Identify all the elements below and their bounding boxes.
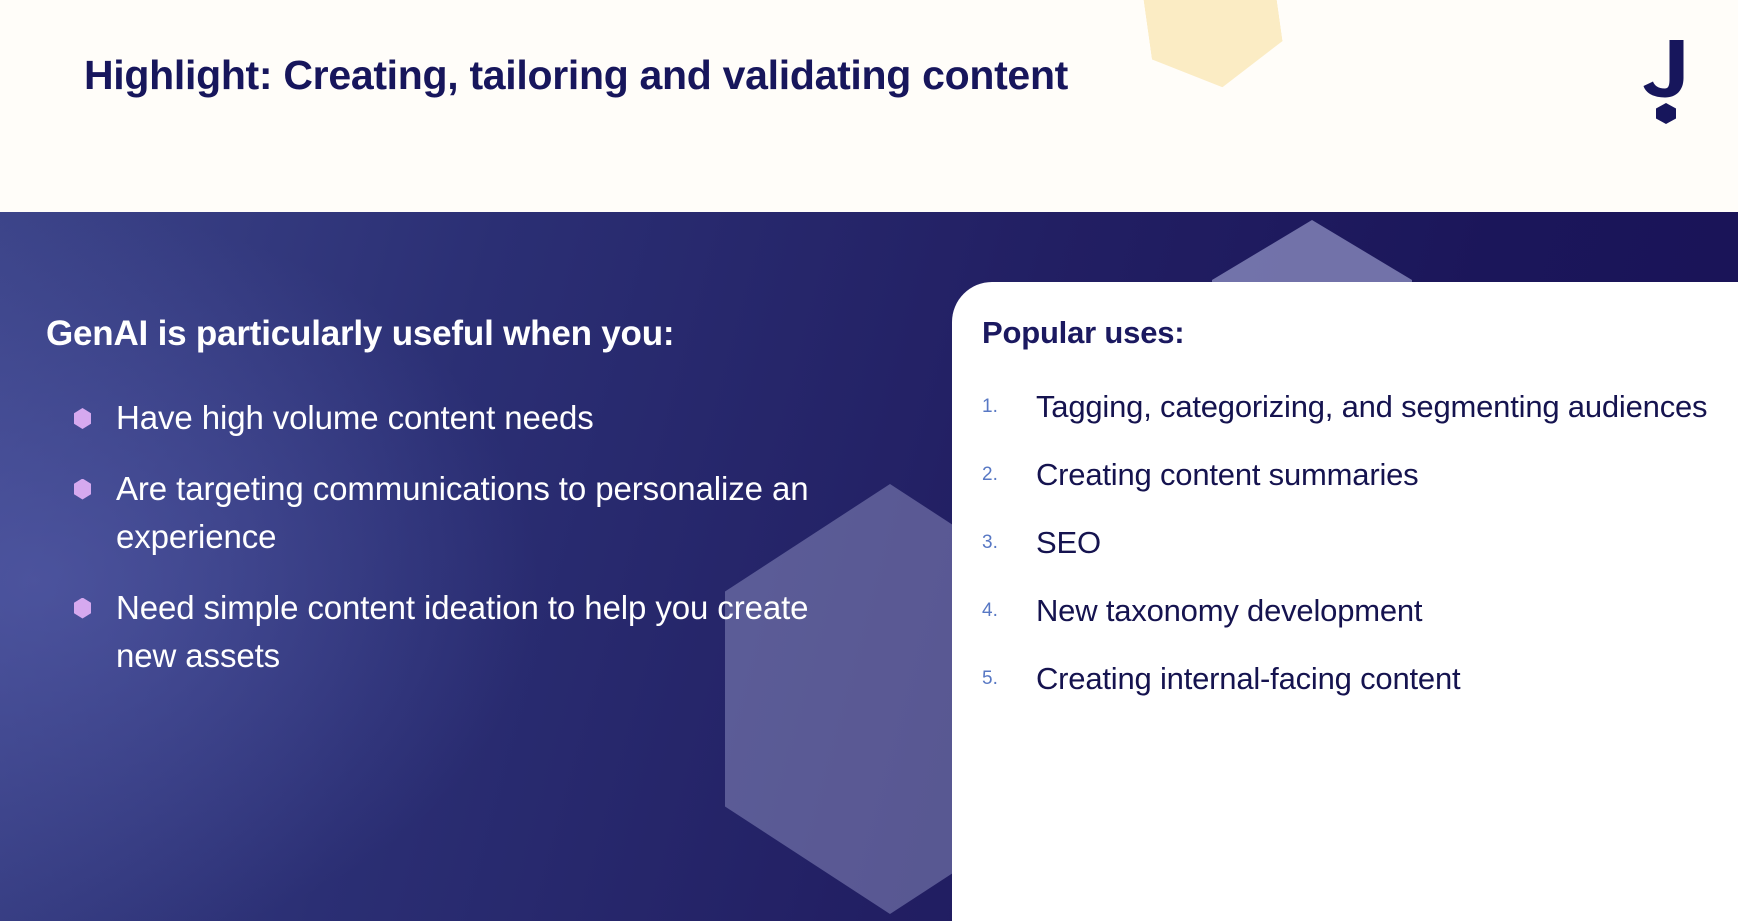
list-item: 1. Tagging, categorizing, and segmenting… xyxy=(982,385,1720,429)
bullet-label: Are targeting communications to personal… xyxy=(116,465,856,562)
popular-uses-card: Popular uses: 1. Tagging, categorizing, … xyxy=(952,282,1738,921)
hexagon-bullet-icon xyxy=(74,598,91,619)
popular-uses-numbered-list: 1. Tagging, categorizing, and segmenting… xyxy=(982,385,1720,725)
list-item-label: New taxonomy development xyxy=(1036,589,1422,633)
list-item-number: 5. xyxy=(982,657,1036,690)
popular-uses-heading: Popular uses: xyxy=(982,315,1184,351)
list-item-number: 3. xyxy=(982,521,1036,554)
presentation-slide: Highlight: Creating, tailoring and valid… xyxy=(0,0,1738,921)
hexagon-bullet-icon xyxy=(74,408,91,429)
page-title: Highlight: Creating, tailoring and valid… xyxy=(84,52,1068,99)
list-item: 4. New taxonomy development xyxy=(982,589,1720,633)
list-item: Have high volume content needs xyxy=(46,394,856,443)
bullet-label: Need simple content ideation to help you… xyxy=(116,584,856,681)
slide-body-panel: GenAI is particularly useful when you: H… xyxy=(0,212,1738,921)
hexagon-bullet-icon xyxy=(74,479,91,500)
bullet-label: Have high volume content needs xyxy=(116,394,594,443)
list-item-label: Creating content summaries xyxy=(1036,453,1418,497)
list-item-label: Creating internal-facing content xyxy=(1036,657,1460,701)
list-item-number: 2. xyxy=(982,453,1036,486)
list-item: Are targeting communications to personal… xyxy=(46,465,856,562)
list-item-number: 4. xyxy=(982,589,1036,622)
list-item-label: SEO xyxy=(1036,521,1101,565)
slide-header: Highlight: Creating, tailoring and valid… xyxy=(0,0,1738,212)
genai-usefulness-bullet-list: Have high volume content needs Are targe… xyxy=(46,394,856,681)
list-item: 3. SEO xyxy=(982,521,1720,565)
left-column-heading: GenAI is particularly useful when you: xyxy=(46,314,856,354)
list-item: 2. Creating content summaries xyxy=(982,453,1720,497)
list-item: Need simple content ideation to help you… xyxy=(46,584,856,681)
left-content-column: GenAI is particularly useful when you: H… xyxy=(46,314,856,703)
list-item-label: Tagging, categorizing, and segmenting au… xyxy=(1036,385,1707,429)
jellyfish-j-logo-icon xyxy=(1636,36,1696,124)
list-item: 5. Creating internal-facing content xyxy=(982,657,1720,701)
decorative-yellow-hexagon-icon xyxy=(1136,0,1288,96)
list-item-number: 1. xyxy=(982,385,1036,418)
